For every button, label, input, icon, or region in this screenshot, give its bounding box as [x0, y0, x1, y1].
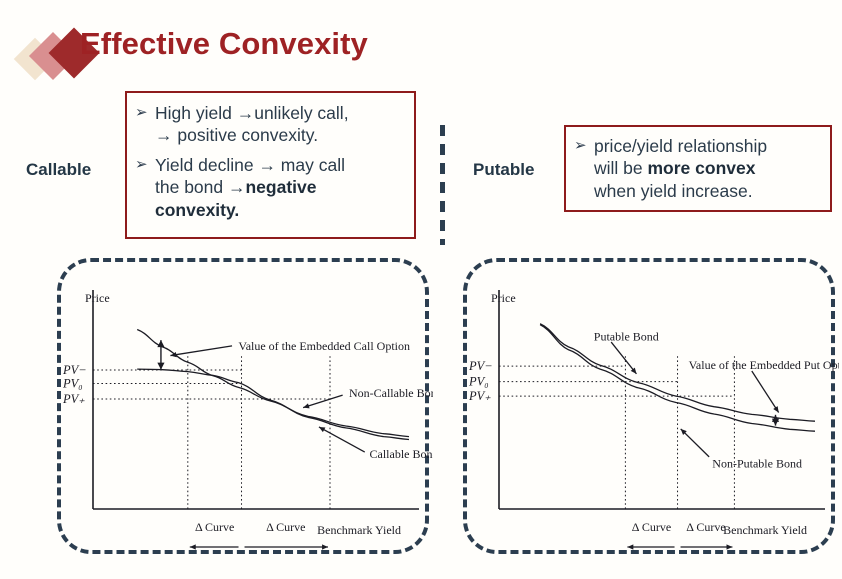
y-tick-label: PV− — [62, 363, 87, 377]
y-tick-label: PV− — [468, 359, 493, 373]
bullet-arrow-icon: ➢ — [574, 135, 594, 155]
y-axis-label: Price — [85, 291, 110, 305]
series-callable-bond — [137, 369, 409, 439]
y-tick-label: PV₊ — [62, 392, 85, 406]
bullet-line-1: price/yield relationship — [594, 136, 767, 156]
putable-callout-box: ➢ price/yield relationship will be more … — [564, 125, 832, 212]
bullet-item: ➢ price/yield relationship will be more … — [574, 135, 822, 202]
annotation-put-option: Value of the Embedded Put Option — [689, 358, 839, 372]
annotation-non-callable-bond: Non-Callable Bond — [349, 386, 433, 400]
y-tick-label: PV₊ — [468, 389, 491, 403]
putable-chart-panel: PriceBenchmark YieldPV−PV₀PV₊Putable Bon… — [463, 258, 835, 554]
callable-callout-box: ➢ High yield →unlikely call, → positive … — [125, 91, 416, 239]
non-callable-callout-arrow — [303, 395, 343, 408]
bullet-item: ➢ High yield →unlikely call, → positive … — [135, 102, 404, 147]
annotation-non-putable-bond: Non-Putable Bond — [712, 457, 802, 471]
delta-arrow-right — [245, 544, 328, 549]
delta-curve-label: Δ Curve — [266, 520, 305, 534]
bullet-text: High yield →unlikely call, → positive co… — [155, 102, 404, 147]
non-putable-callout-arrow — [681, 429, 709, 457]
bullet-line-2: will be — [594, 158, 648, 178]
x-axis-label: Benchmark Yield — [317, 523, 401, 537]
call-option-callout-arrow — [170, 346, 232, 357]
bullet-line-3: when yield increase. — [594, 181, 753, 201]
bullet-text: Yield decline → may call the bond →negat… — [155, 154, 404, 221]
bullet-arrow-icon: ➢ — [135, 102, 155, 122]
delta-curve-label: Δ Curve — [632, 520, 671, 534]
section-label-callable: Callable — [26, 160, 91, 180]
bullet-line-1: Yield decline → may call — [155, 155, 345, 175]
center-dashed-divider — [440, 125, 445, 245]
slide-canvas: Effective Convexity Callable Putable ➢ H… — [0, 0, 842, 579]
section-label-putable: Putable — [473, 160, 534, 180]
bullet-item: ➢ Yield decline → may call the bond →neg… — [135, 154, 404, 221]
y-tick-label: PV₀ — [468, 375, 489, 389]
delta-arrow-right — [681, 544, 733, 549]
bullet-text: price/yield relationship will be more co… — [594, 135, 822, 202]
y-tick-label: PV₀ — [62, 377, 83, 391]
callable-chart-panel: PriceBenchmark YieldPV−PV₀PV₊Value of th… — [57, 258, 429, 554]
delta-curve-label: Δ Curve — [686, 520, 725, 534]
put-option-callout-arrow — [752, 371, 779, 412]
annotation-putable-bond: Putable Bond — [594, 329, 659, 343]
callable-chart-svg: PriceBenchmark YieldPV−PV₀PV₊Value of th… — [61, 262, 433, 558]
bullet-emphasis: more convex — [648, 158, 756, 178]
x-axis-label: Benchmark Yield — [723, 523, 807, 537]
bullet-line-2: → positive convexity. — [155, 125, 318, 145]
bullet-arrow-icon: ➢ — [135, 154, 155, 174]
page-title: Effective Convexity — [80, 26, 368, 62]
title-block: Effective Convexity — [18, 26, 438, 82]
embedded-put-option-arrow — [772, 415, 779, 426]
delta-curve-label: Δ Curve — [195, 520, 234, 534]
y-axis-label: Price — [491, 291, 516, 305]
annotation-call-option: Value of the Embedded Call Option — [238, 339, 410, 353]
bullet-line-2: the bond → — [155, 177, 245, 197]
delta-arrow-left — [627, 544, 674, 549]
putable-callout-arrow — [611, 342, 636, 374]
series-putable-bond — [540, 324, 815, 422]
bullet-line-1: High yield →unlikely call, — [155, 103, 349, 123]
putable-chart-svg: PriceBenchmark YieldPV−PV₀PV₊Putable Bon… — [467, 262, 839, 558]
delta-arrow-left — [190, 544, 239, 549]
annotation-callable-bond: Callable Bond — [370, 447, 434, 461]
